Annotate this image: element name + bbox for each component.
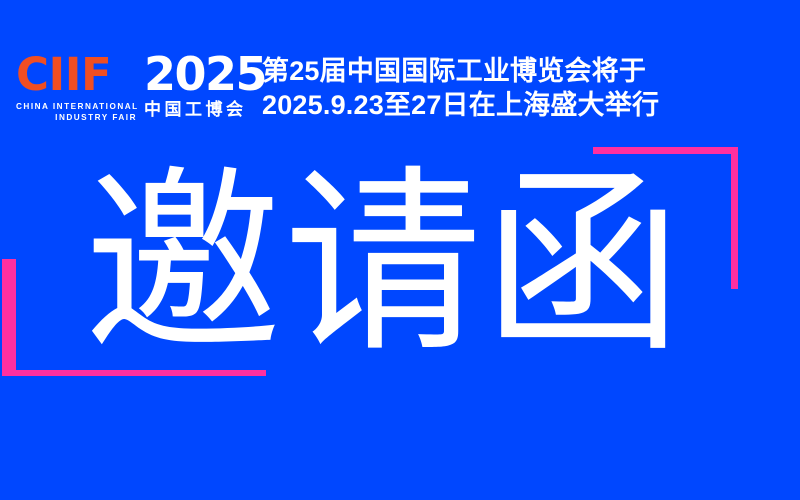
main-title-area: 邀请函 bbox=[84, 148, 684, 380]
main-title: 邀请函 bbox=[84, 164, 684, 364]
ciif-logo-left: CIIF CHINA INTERNATIONAL INDUSTRY FAIR bbox=[16, 52, 138, 123]
ciif-wordmark: CIIF bbox=[16, 52, 138, 98]
event-headline-line-2: 2025.9.23至27日在上海盛大举行 bbox=[262, 88, 722, 122]
event-headline-line-1: 第25届中国国际工业博览会将于 bbox=[262, 54, 722, 88]
ciif-logo-english-line-2: INDUSTRY FAIR bbox=[16, 112, 138, 123]
ciif-logo-chinese-name: 中国工博会 bbox=[144, 100, 250, 120]
ciif-logo: CIIF CHINA INTERNATIONAL INDUSTRY FAIR 2… bbox=[16, 52, 248, 130]
event-headline: 第25届中国国际工业博览会将于 2025.9.23至27日在上海盛大举行 bbox=[262, 54, 722, 122]
bracket-vertical-arm bbox=[2, 259, 16, 376]
poster-header: CIIF CHINA INTERNATIONAL INDUSTRY FAIR 2… bbox=[0, 0, 800, 148]
poster-canvas: CIIF CHINA INTERNATIONAL INDUSTRY FAIR 2… bbox=[0, 0, 800, 500]
ciif-logo-year: 2025 bbox=[144, 50, 250, 98]
ciif-logo-english-line-1: CHINA INTERNATIONAL bbox=[16, 101, 138, 112]
ciif-logo-right: 2025 中国工博会 bbox=[144, 50, 250, 120]
bracket-vertical-arm bbox=[731, 147, 738, 289]
